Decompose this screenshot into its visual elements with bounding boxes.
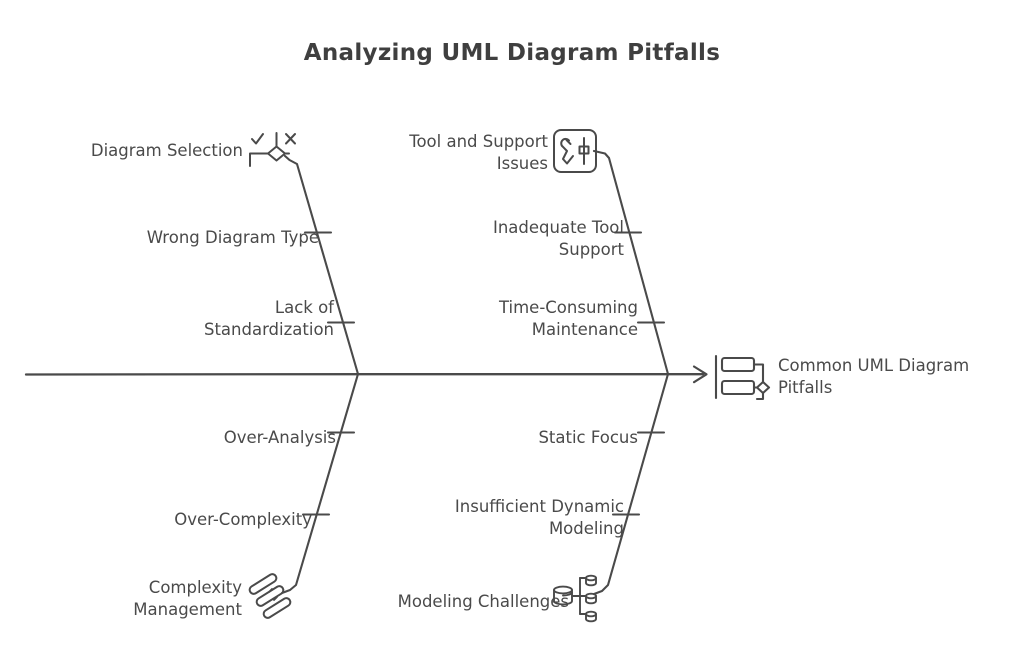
- cause-label-static-focus: Static Focus: [338, 427, 638, 449]
- bone-complexity-management: [282, 374, 358, 593]
- cause-label-over-analysis: Over-Analysis: [36, 427, 336, 449]
- category-label-modeling-challenges: Modeling Challenges: [269, 591, 569, 613]
- category-label-tool-support-issues: Tool and Support Issues: [268, 131, 548, 175]
- cause-label-over-complexity: Over-Complexity: [12, 509, 312, 531]
- bone-diagram-selection: [285, 156, 358, 374]
- bone-modeling-challenges: [594, 374, 668, 594]
- cause-label-inadequate-tool-support: Inadequate Tool Support: [324, 217, 624, 261]
- cause-label-lack-standardization: Lack of Standardization: [34, 297, 334, 341]
- cause-label-insufficient-dynamic-modeling: Insufficient Dynamic Modeling: [324, 496, 624, 540]
- category-label-diagram-selection: Diagram Selection: [0, 140, 243, 162]
- category-label-complexity-management: Complexity Management: [0, 577, 242, 621]
- tools-wrench-screwdriver-icon: [554, 130, 596, 172]
- cause-label-wrong-diagram-type: Wrong Diagram Type: [19, 227, 319, 249]
- cause-label-time-consuming-maintenance: Time-Consuming Maintenance: [338, 297, 638, 341]
- effect-label: Common UML Diagram Pitfalls: [778, 355, 1008, 399]
- bone-tool-support-issues: [594, 151, 668, 374]
- uml-activity-diagram-icon: [716, 356, 769, 399]
